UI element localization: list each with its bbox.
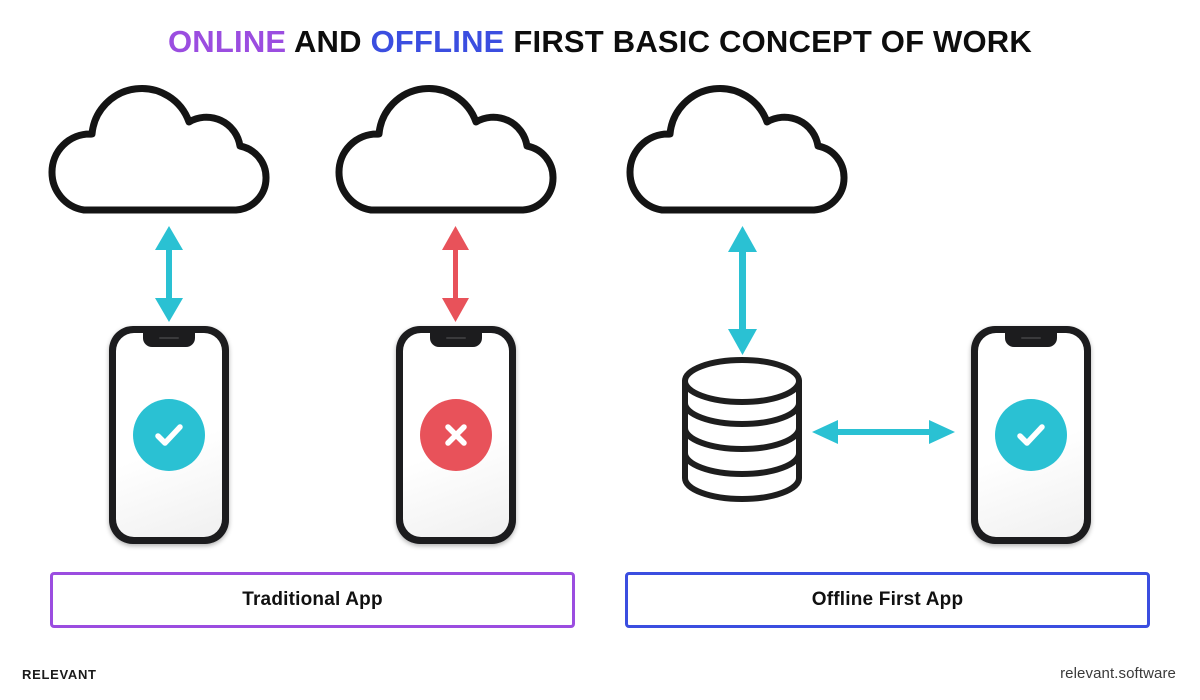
phone-traditional-offline[interactable] bbox=[396, 326, 516, 544]
cloud-icon-offline-first bbox=[630, 88, 844, 210]
group-label-text: Offline First App bbox=[812, 589, 964, 611]
group-label-traditional-app[interactable]: Traditional App bbox=[50, 572, 575, 628]
phone-speaker-icon bbox=[446, 337, 466, 339]
phone-notch-icon bbox=[430, 333, 482, 347]
phone-screen bbox=[116, 333, 222, 537]
check-icon bbox=[1011, 415, 1051, 455]
cloud-icon-traditional-offline bbox=[339, 88, 553, 210]
phone-screen bbox=[978, 333, 1084, 537]
phone-notch-icon bbox=[1005, 333, 1057, 347]
phone-speaker-icon bbox=[159, 337, 179, 339]
sync-arrow-traditional-offline bbox=[442, 226, 469, 322]
x-icon bbox=[436, 415, 476, 455]
phone-traditional-online[interactable] bbox=[109, 326, 229, 544]
group-label-offline-first-app[interactable]: Offline First App bbox=[625, 572, 1150, 628]
footer-website[interactable]: relevant.software bbox=[1060, 665, 1176, 682]
status-badge-success bbox=[995, 399, 1067, 471]
sync-arrow-traditional-online bbox=[155, 226, 183, 322]
phone-offline-first[interactable] bbox=[971, 326, 1091, 544]
sync-arrow-offline-first-cloud bbox=[728, 226, 757, 355]
phone-speaker-icon bbox=[1021, 337, 1041, 339]
phone-notch-icon bbox=[143, 333, 195, 347]
database-icon bbox=[685, 360, 799, 499]
status-badge-error bbox=[420, 399, 492, 471]
group-label-text: Traditional App bbox=[242, 589, 383, 611]
sync-arrow-offline-first-local bbox=[812, 420, 955, 444]
check-icon bbox=[149, 415, 189, 455]
cloud-icon-traditional-online bbox=[52, 88, 266, 210]
phone-screen bbox=[403, 333, 509, 537]
status-badge-success bbox=[133, 399, 205, 471]
diagram-canvas: Traditional App Offline First App bbox=[0, 0, 1200, 700]
footer-brand: RELEVANT bbox=[22, 667, 97, 682]
